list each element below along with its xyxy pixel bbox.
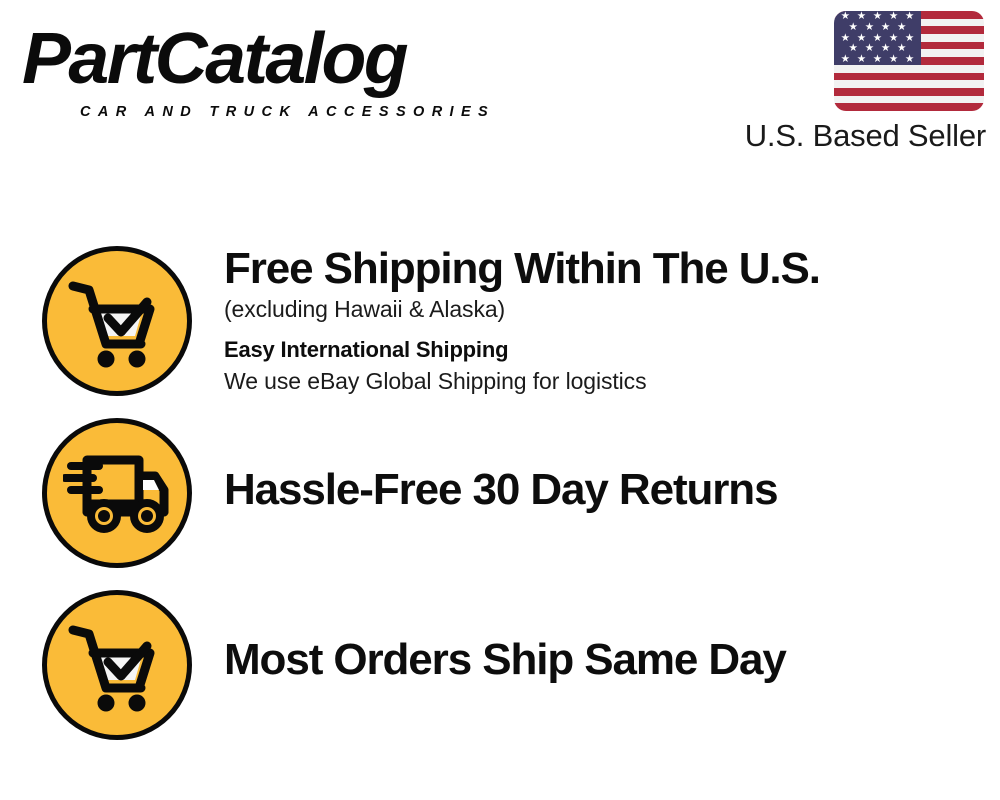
flag-canton: ★ ★ ★ ★ ★ ★ ★ ★ ★ ★ ★ ★ ★ ★ ★ ★ <box>834 11 921 65</box>
flag-star: ★ <box>841 54 850 65</box>
us-flag-icon: ★ ★ ★ ★ ★ ★ ★ ★ ★ ★ ★ ★ ★ ★ ★ ★ <box>834 11 984 111</box>
flag-star: ★ <box>865 22 874 33</box>
flag-star: ★ <box>849 22 858 33</box>
flag-star: ★ <box>905 33 914 44</box>
flag-star: ★ <box>873 54 882 65</box>
delivery-truck-icon <box>42 418 192 568</box>
logo-wordmark: PartCatalog <box>22 22 406 96</box>
benefit-text-block: Hassle-Free 30 Day Returns <box>192 408 1000 515</box>
flag-star: ★ <box>905 54 914 65</box>
benefit-secondary-title: Easy International Shipping <box>224 334 1000 366</box>
benefit-row: Most Orders Ship Same Day <box>0 580 1000 750</box>
benefit-row: Hassle-Free 30 Day Returns <box>0 408 1000 580</box>
benefit-subtitle: (excluding Hawaii & Alaska) <box>224 294 1000 324</box>
logo-tagline: CAR AND TRUCK ACCESSORIES <box>80 104 495 120</box>
benefit-title: Most Orders Ship Same Day <box>224 635 1000 685</box>
benefit-text-block: Most Orders Ship Same Day <box>192 580 1000 685</box>
benefit-secondary-subtitle: We use eBay Global Shipping for logistic… <box>224 366 1000 396</box>
shopping-cart-check-icon <box>42 590 192 740</box>
partcatalog-logo[interactable]: PartCatalog CAR AND TRUCK ACCESSORIES <box>22 22 492 117</box>
page-header: PartCatalog CAR AND TRUCK ACCESSORIES ★ … <box>0 0 1000 180</box>
flag-star: ★ <box>881 22 890 33</box>
benefits-list: Free Shipping Within The U.S. (excluding… <box>0 232 1000 750</box>
flag-star: ★ <box>897 22 906 33</box>
benefit-title: Free Shipping Within The U.S. <box>224 244 1000 294</box>
benefit-title: Hassle-Free 30 Day Returns <box>224 465 1000 515</box>
us-based-seller-label: U.S. Based Seller <box>745 118 986 154</box>
flag-star: ★ <box>857 54 866 65</box>
flag-star: ★ <box>889 54 898 65</box>
flag-star: ★ <box>905 11 914 22</box>
shopping-cart-check-icon <box>42 246 192 396</box>
benefit-row: Free Shipping Within The U.S. (excluding… <box>0 232 1000 408</box>
benefit-text-block: Free Shipping Within The U.S. (excluding… <box>192 232 1000 396</box>
